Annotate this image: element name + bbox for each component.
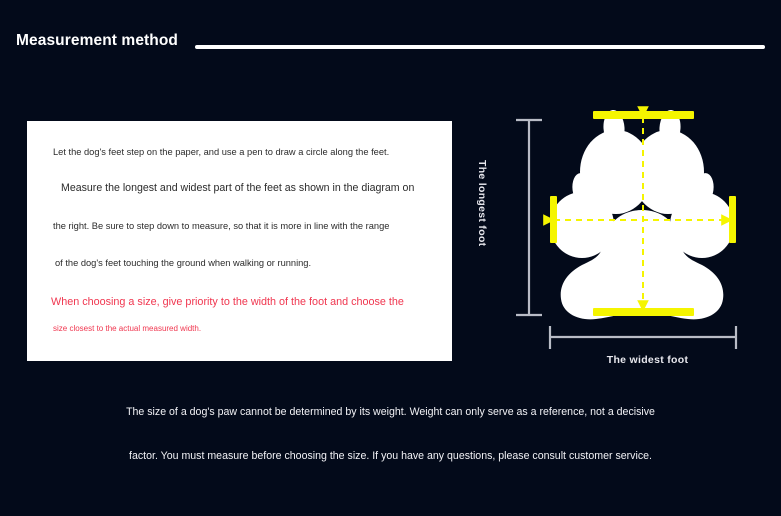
instruction-line-4: of the dog's feet touching the ground wh… (41, 258, 438, 269)
measurement-method-page: Measurement method Let the dog's feet st… (0, 0, 781, 516)
widest-foot-bracket-icon (550, 326, 736, 349)
instruction-line-2: Measure the longest and widest part of t… (41, 183, 438, 194)
header-divider-rule (195, 45, 765, 49)
footer-line-1: The size of a dog's paw cannot be determ… (0, 405, 781, 419)
widest-foot-label: The widest foot (560, 354, 735, 366)
sizing-warning-sub: size closest to the actual measured widt… (41, 323, 438, 334)
sizing-warning-main: When choosing a size, give priority to t… (41, 297, 438, 308)
paw-measurement-diagram (480, 85, 780, 375)
footer-line-2: factor. You must measure before choosing… (0, 449, 781, 463)
instruction-line-1: Let the dog's feet step on the paper, an… (41, 147, 438, 158)
longest-foot-label: The longest foot (477, 160, 488, 246)
instruction-card: Let the dog's feet step on the paper, an… (27, 121, 452, 361)
page-header: Measurement method (0, 28, 781, 68)
page-title: Measurement method (16, 28, 178, 54)
instruction-line-3: the right. Be sure to step down to measu… (41, 221, 438, 232)
footer-note: The size of a dog's paw cannot be determ… (0, 405, 781, 463)
longest-foot-bracket-icon (516, 120, 542, 315)
